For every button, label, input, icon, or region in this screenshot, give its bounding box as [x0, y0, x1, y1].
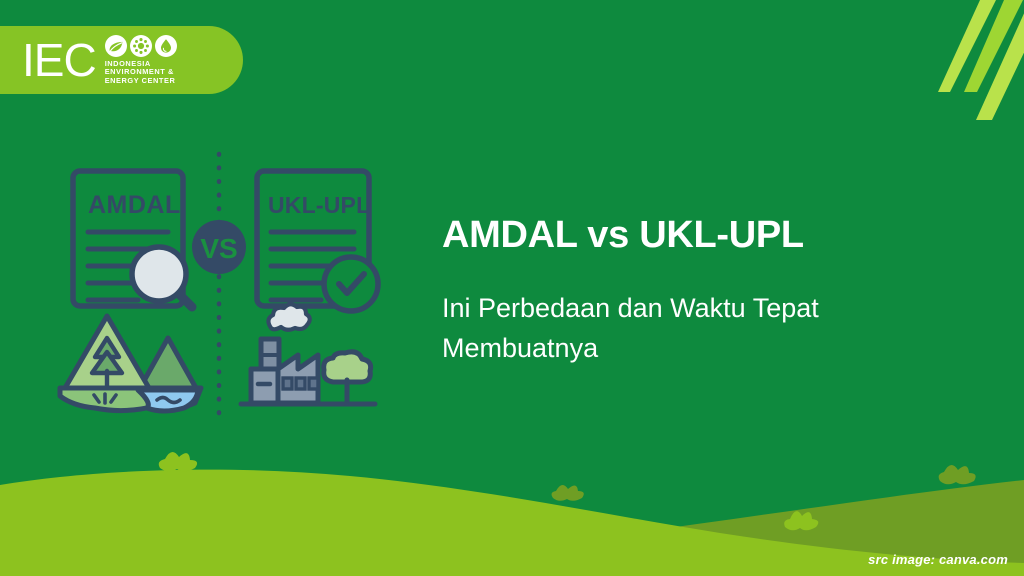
factory-icon — [241, 304, 375, 404]
corner-stripes-decoration — [884, 0, 1024, 130]
water-drop-icon — [155, 35, 177, 57]
svg-text:UKL-UPL: UKL-UPL — [268, 192, 370, 218]
page-subtitle: Ini Perbedaan dan Waktu Tepat Membuatnya — [442, 288, 982, 368]
logo-icon-set — [105, 35, 177, 57]
svg-text:AMDAL: AMDAL — [88, 191, 181, 219]
check-circle-icon — [324, 257, 378, 311]
deciduous-tree-icon — [324, 352, 371, 403]
comparison-illustration: AMDAL VS UKL-UPL — [55, 150, 405, 425]
logo-wordmark: IEC — [22, 37, 96, 83]
image-credit: src image: canva.com — [868, 552, 1008, 567]
smoke-icon — [268, 304, 309, 330]
logo-right-block: INDONESIA ENVIRONMENT & ENERGY CENTER — [105, 35, 177, 86]
brand-logo-badge[interactable]: IEC — [0, 26, 243, 94]
logo-tagline-line-3: ENERGY CENTER — [105, 77, 177, 86]
leaf-icon — [105, 35, 127, 57]
ukl-upl-document-icon: UKL-UPL — [257, 171, 378, 311]
svg-text:VS: VS — [200, 233, 237, 264]
slide-canvas: IEC — [0, 0, 1024, 576]
subtitle-line-2: Membuatnya — [442, 328, 982, 368]
nature-landscape-icon — [60, 316, 201, 411]
amdal-document-icon: AMDAL — [73, 171, 192, 307]
versus-badge: VS — [192, 220, 246, 274]
sun-gear-icon — [130, 35, 152, 57]
page-title: AMDAL vs UKL-UPL — [442, 215, 804, 257]
subtitle-line-1: Ini Perbedaan dan Waktu Tepat — [442, 288, 982, 328]
